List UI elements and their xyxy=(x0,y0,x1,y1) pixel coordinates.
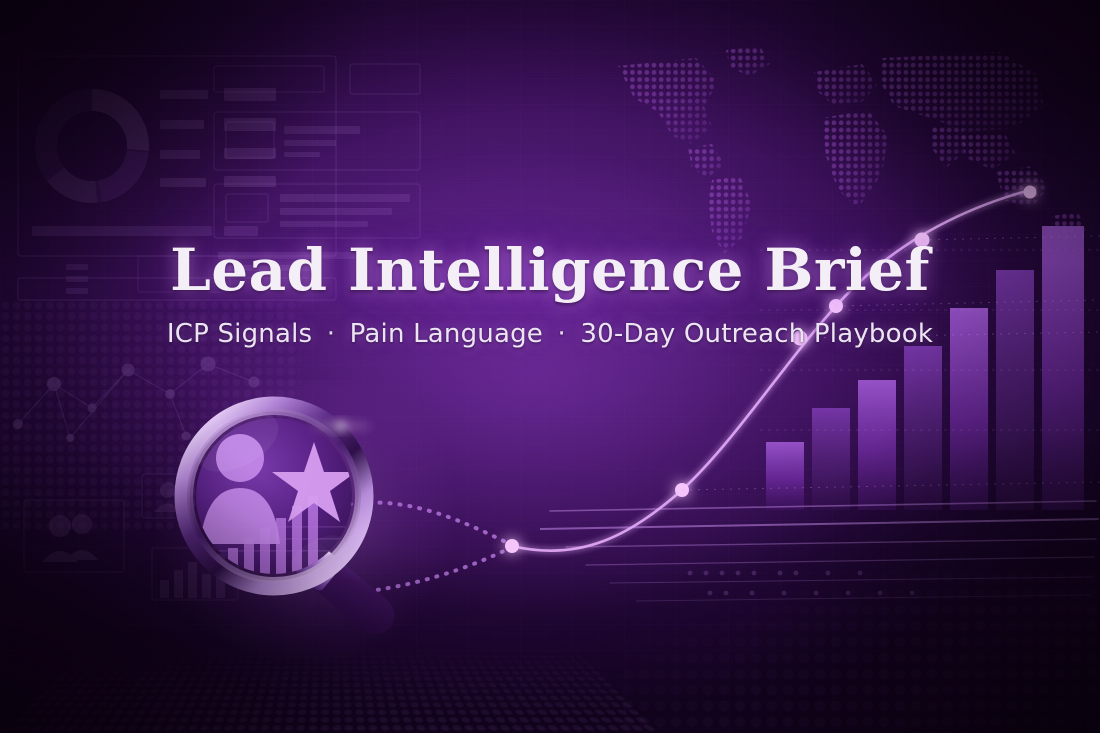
corner-shadow-overlay xyxy=(0,0,1100,733)
poster-canvas: Lead Intelligence Brief ICP Signals · Pa… xyxy=(0,0,1100,733)
